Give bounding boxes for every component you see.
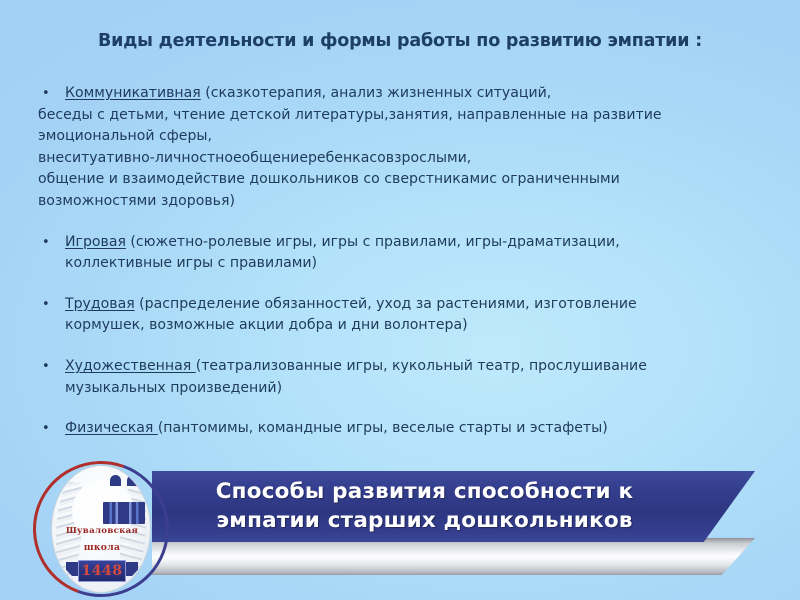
bullet-continuation-text: общение и взаимодействие дошкольников со…: [38, 171, 620, 187]
bullet-continuation-line: беседы с детьми, чтение детской литерату…: [38, 105, 738, 127]
school-emblem: Шуваловская школа 1448: [25, 455, 177, 600]
bullet-marker: •: [42, 356, 50, 378]
bullet-continuation-text: коллективные игры с правилами): [65, 255, 317, 271]
list-item: •Игровая (сюжетно-ролевые игры, игры с п…: [38, 232, 738, 275]
bullet-marker: •: [42, 83, 50, 105]
spacer: [38, 399, 738, 418]
bullet-continuation-line: эмоциональной сферы,: [38, 126, 738, 148]
bullet-continuation-text: внеситуативно-личностноеобщениеребенкасо…: [38, 150, 471, 166]
school-building-icon: [103, 502, 145, 524]
dome-left: [110, 475, 121, 486]
page-title: Виды деятельности и формы работы по разв…: [0, 31, 800, 51]
bullet-continuation-line: музыкальных произведений): [38, 378, 738, 400]
list-item: •Коммуникативная (сказкотерапия, анализ …: [38, 83, 738, 213]
bullet-continuation-text: эмоциональной сферы,: [38, 128, 212, 144]
bullet-continuation-line: возможностями здоровья): [38, 191, 738, 213]
bullet-continuation-text: беседы с детьми, чтение детской литерату…: [38, 107, 662, 123]
emblem-school-name-line2: школа: [52, 542, 151, 553]
bullet-first-line: •Трудовая (распределение обязанностей, у…: [38, 294, 738, 316]
slide-canvas: Виды деятельности и формы работы по разв…: [0, 0, 800, 600]
list-item: •Физическая (пантомимы, командные игры, …: [38, 418, 738, 440]
bullet-keyword: Коммуникативная: [65, 85, 201, 101]
list-item: •Художественная (театрализованные игры, …: [38, 356, 738, 399]
bullet-keyword: Физическая: [65, 420, 158, 436]
bullet-first-line: •Художественная (театрализованные игры, …: [38, 356, 738, 378]
bullet-first-line: •Коммуникативная (сказкотерапия, анализ …: [38, 83, 738, 105]
dome-right: [127, 475, 138, 486]
bullet-keyword: Художественная: [65, 358, 196, 374]
bullet-marker: •: [42, 418, 50, 440]
spacer: [38, 213, 738, 232]
silver-ribbon: [152, 538, 755, 575]
bullet-first-line: •Игровая (сюжетно-ролевые игры, игры с п…: [38, 232, 738, 254]
bullet-continuation-line: внеситуативно-личностноеобщениеребенкасо…: [38, 148, 738, 170]
banner-heading: Способы развития способности к эмпатии с…: [152, 477, 697, 535]
emblem-school-name-line1: Шуваловская: [52, 526, 151, 536]
bullet-text: (распределение обязанностей, уход за рас…: [135, 296, 637, 312]
bullet-continuation-line: общение и взаимодействие дошкольников со…: [38, 169, 738, 191]
bullet-marker: •: [42, 232, 50, 254]
bullet-text: (сказкотерапия, анализ жизненных ситуаци…: [201, 85, 552, 101]
bullet-continuation-text: возможностями здоровья): [38, 193, 235, 209]
bottom-banner: Способы развития способности к эмпатии с…: [0, 455, 800, 600]
emblem-oval: Шуваловская школа 1448: [51, 465, 151, 593]
bullet-continuation-line: кормушек, возможные акции добра и дни во…: [38, 315, 738, 337]
spacer: [38, 337, 738, 356]
bullet-text: (театрализованные игры, кукольный театр,…: [196, 358, 647, 374]
school-domes-icon: [110, 475, 138, 487]
bullet-keyword: Игровая: [65, 234, 126, 250]
banner-heading-line2: эмпатии старших дошкольников: [152, 506, 697, 535]
bullet-marker: •: [42, 294, 50, 316]
list-item: •Трудовая (распределение обязанностей, у…: [38, 294, 738, 337]
bullet-continuation-line: коллективные игры с правилами): [38, 253, 738, 275]
bullet-text: (сюжетно-ролевые игры, игры с правилами,…: [126, 234, 620, 250]
emblem-year-ribbon: 1448: [66, 560, 138, 584]
bullet-first-line: •Физическая (пантомимы, командные игры, …: [38, 418, 738, 440]
spacer: [38, 275, 738, 294]
bullet-text: (пантомимы, командные игры, веселые стар…: [158, 420, 608, 436]
bullet-continuation-text: кормушек, возможные акции добра и дни во…: [65, 317, 468, 333]
bullet-continuation-text: музыкальных произведений): [65, 380, 282, 396]
blue-ribbon: Способы развития способности к эмпатии с…: [152, 471, 755, 542]
bullet-keyword: Трудовая: [65, 296, 135, 312]
banner-heading-line1: Способы развития способности к: [152, 477, 697, 506]
content-body: •Коммуникативная (сказкотерапия, анализ …: [38, 83, 738, 440]
emblem-year-number: 1448: [78, 561, 126, 581]
